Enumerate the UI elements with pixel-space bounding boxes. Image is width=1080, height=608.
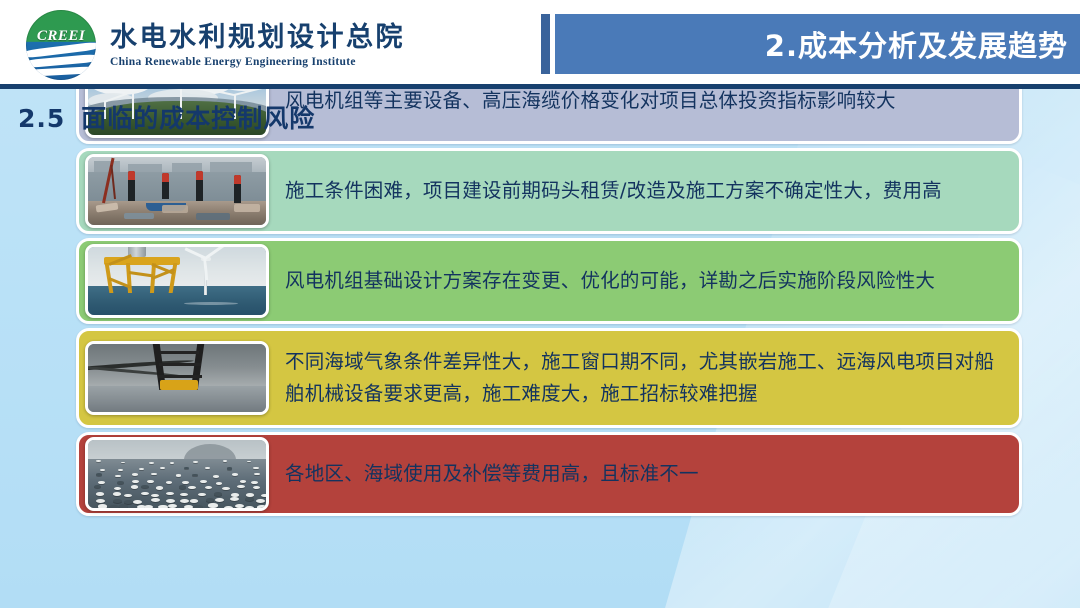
aquaculture-buoys-photo	[85, 437, 269, 511]
org-name-cn: 水电水利规划设计总院	[110, 22, 405, 53]
buoy-marker	[190, 499, 199, 503]
slide: CREEI 水电水利规划设计总院 China Renewable Energy …	[0, 0, 1080, 608]
org-name-en: China Renewable Energy Engineering Insti…	[110, 56, 405, 68]
buoy-marker	[253, 467, 258, 469]
buoy-marker	[184, 467, 189, 469]
buoy-marker	[236, 510, 246, 511]
buoy-marker	[246, 493, 254, 497]
creei-logo-icon: CREEI	[26, 10, 96, 80]
buoy-marker	[257, 505, 266, 509]
brand-text: 水电水利规划设计总院 China Renewable Energy Engine…	[110, 22, 405, 67]
section-title-text: 面临的成本控制风险	[81, 99, 315, 135]
buoy-marker	[113, 499, 122, 503]
buoy-marker	[231, 493, 239, 497]
buoy-marker	[132, 473, 138, 476]
buoy-marker	[166, 499, 175, 503]
buoy-marker	[208, 503, 217, 507]
buoy-marker	[205, 467, 210, 469]
buoy-marker	[96, 473, 102, 476]
page-title: 2.5 面临的成本控制风险	[18, 99, 315, 135]
port-construction-photo	[85, 154, 269, 228]
risk-text: 风电机组基础设计方案存在变更、优化的可能，详勘之后实施阶段风险性大	[285, 265, 951, 297]
buoy-marker	[256, 499, 265, 503]
buoy-marker	[205, 486, 212, 489]
header-divider	[0, 84, 1080, 89]
offshore-jacket-foundation-photo	[85, 244, 269, 318]
risk-item-weather-window[interactable]: 不同海域气象条件差异性大，施工窗口期不同，尤其嵌岩施工、远海风电项目对船舶机械设…	[76, 328, 1022, 428]
institute-branding: CREEI 水电水利规划设计总院 China Renewable Energy …	[26, 10, 405, 80]
buoy-marker	[224, 506, 233, 510]
risk-text: 施工条件困难，项目建设前期码头租赁/改造及施工方案不确定性大，费用高	[285, 175, 958, 207]
buoy-marker	[119, 504, 128, 508]
buoy-marker	[98, 481, 105, 484]
buoy-marker	[216, 482, 223, 485]
buoy-marker	[206, 498, 215, 502]
buoy-marker	[168, 510, 178, 511]
risk-item-construction-conditions[interactable]: 施工条件困难，项目建设前期码头租赁/改造及施工方案不确定性大，费用高	[76, 148, 1022, 234]
buoy-marker	[193, 505, 202, 509]
buoy-marker	[144, 505, 153, 509]
section-number: 2.5	[18, 104, 65, 133]
buoy-marker	[124, 500, 133, 504]
buoy-marker	[117, 481, 124, 484]
buoy-marker	[166, 492, 174, 496]
buoy-marker	[158, 505, 167, 509]
buoy-marker	[166, 481, 173, 484]
buoy-marker	[109, 505, 118, 509]
logo-wave-icon	[26, 66, 96, 77]
buoy-marker	[251, 481, 258, 484]
buoy-marker	[237, 485, 244, 488]
buoy-marker	[98, 504, 107, 508]
risk-text: 不同海域气象条件差异性大，施工窗口期不同，尤其嵌岩施工、远海风电项目对船舶机械设…	[285, 346, 1019, 409]
chapter-title: 2.成本分析及发展趋势	[765, 23, 1080, 65]
buoy-marker	[141, 485, 148, 488]
slide-header: CREEI 水电水利规划设计总院 China Renewable Energy …	[0, 0, 1080, 86]
creei-logo-text: CREEI	[26, 29, 96, 44]
banner-accent-bar	[541, 14, 550, 74]
risk-text: 各地区、海域使用及补偿等费用高，且标准不一	[285, 458, 715, 490]
chapter-title-banner: 2.成本分析及发展趋势	[541, 14, 1080, 74]
risk-item-sea-area-compensation[interactable]: 各地区、海域使用及补偿等费用高，且标准不一	[76, 432, 1022, 516]
buoy-marker	[168, 504, 177, 508]
risk-item-foundation-design[interactable]: 风电机组基础设计方案存在变更、优化的可能，详勘之后实施阶段风险性大	[76, 238, 1022, 324]
buoy-marker	[215, 498, 224, 502]
offshore-platform-photo	[85, 341, 269, 415]
buoy-marker	[261, 494, 269, 498]
buoy-marker	[198, 493, 206, 497]
buoy-marker	[131, 485, 138, 488]
buoy-marker	[230, 497, 239, 501]
buoy-marker	[188, 486, 195, 489]
buoy-marker	[213, 475, 219, 478]
buoy-marker	[227, 467, 232, 469]
buoy-marker	[133, 500, 142, 504]
buoy-marker	[147, 480, 154, 483]
buoy-marker	[113, 492, 121, 496]
buoy-marker	[115, 475, 121, 478]
buoy-marker	[117, 510, 127, 511]
buoy-marker	[214, 492, 222, 496]
buoy-marker	[232, 473, 238, 476]
risk-text: 风电机组等主要设备、高压海缆价格变化对项目总体投资指标影响较大	[285, 85, 912, 117]
buoy-marker	[156, 486, 163, 489]
buoy-marker	[96, 492, 104, 496]
buoy-marker	[179, 485, 186, 488]
buoy-marker	[245, 506, 254, 510]
buoy-marker	[149, 462, 153, 464]
buoy-marker	[184, 505, 193, 509]
